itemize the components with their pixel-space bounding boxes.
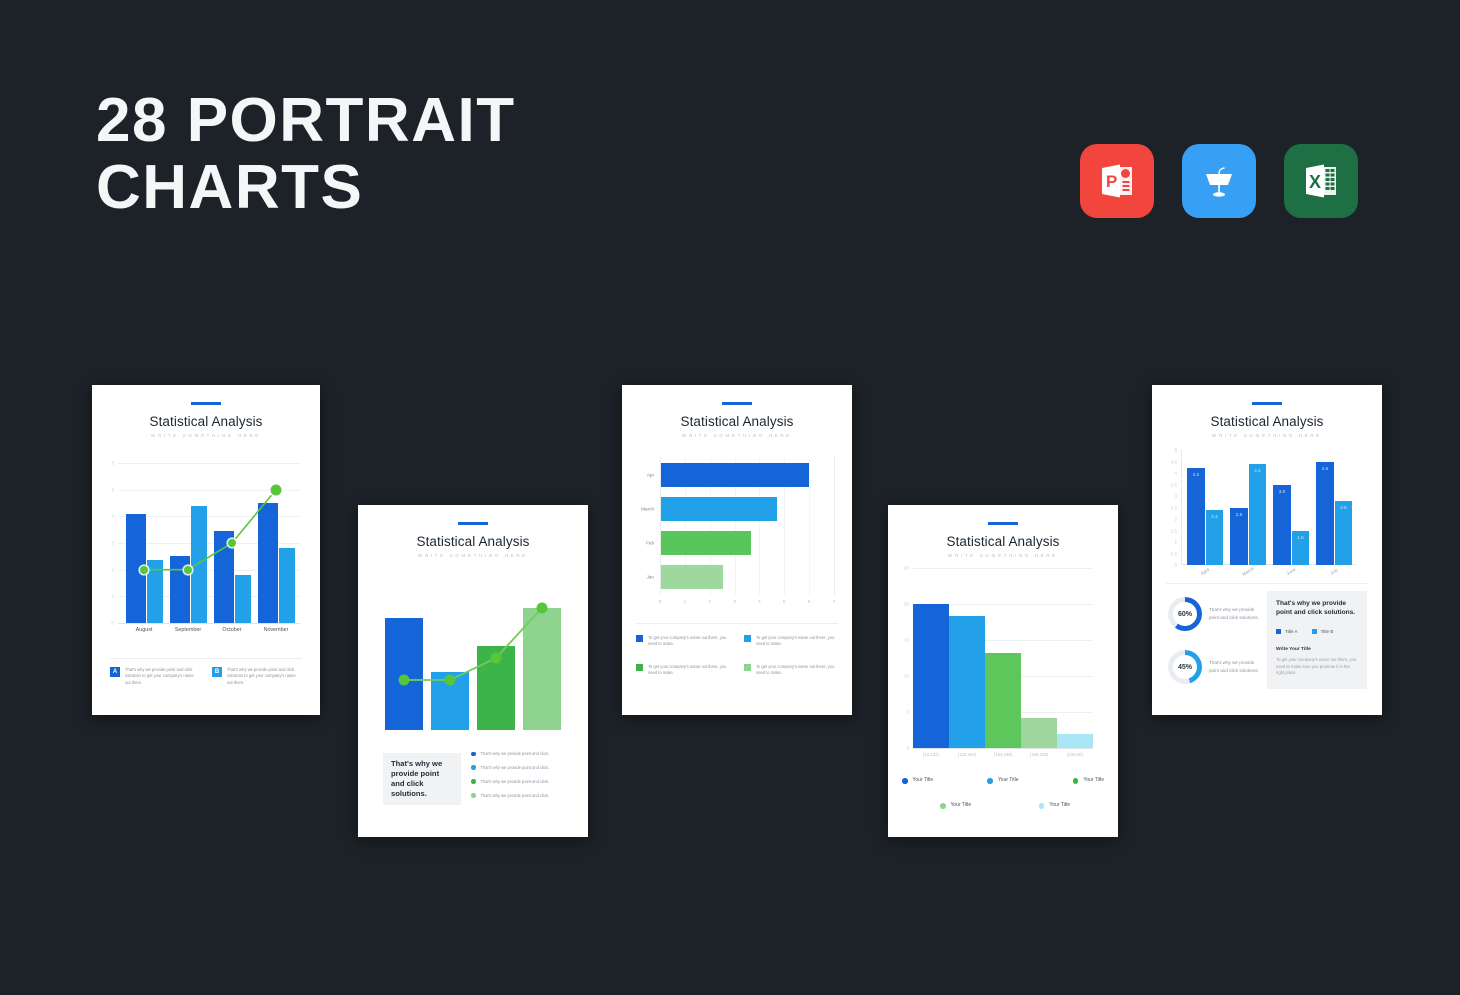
slide-5-chart: 5 4.5 4 3.5 3 2.5 2 1.5 1 0.5 0 4.2 2.4 [1183, 450, 1355, 565]
legend-item[interactable]: To get your company's name out there, yo… [636, 635, 730, 648]
legend-swatch [1276, 629, 1281, 634]
y-tick: 25 [904, 566, 909, 571]
legend-label: That's why we provide point and click. [481, 765, 550, 771]
slide-4-chart: 25 20 15 10 5 0 (10,132) (132,164) (164,… [913, 568, 1093, 748]
page-title: 28 PORTRAIT CHARTS [96, 88, 516, 222]
slide-card-3[interactable]: Statistical Analysis WRITE SOMETHING HER… [622, 385, 852, 715]
legend-swatch [744, 664, 751, 671]
legend-label: Your Title [1083, 777, 1104, 785]
bar-b-november [279, 548, 295, 623]
legend-badge-b: B [212, 667, 222, 677]
slide-1-title: Statistical Analysis [92, 414, 320, 429]
legend-badge-a: A [110, 667, 120, 677]
slide-4-header: Statistical Analysis WRITE SOMETHING HER… [888, 505, 1118, 558]
legend-item[interactable]: That's why we provide point and click. [471, 765, 571, 771]
slide-4-title: Statistical Analysis [888, 534, 1118, 549]
legend-item[interactable]: Your Title [902, 777, 933, 785]
y-tick: 2.5 [1171, 505, 1177, 510]
x-tick: (228,26) [1067, 752, 1083, 757]
y-tick: 5 [111, 487, 114, 492]
slide-1-header: Statistical Analysis WRITE SOMETHING HER… [92, 385, 320, 438]
y-tick: 10 [904, 674, 909, 679]
donut-item-2: 45% That's why we provide point and clic… [1168, 650, 1264, 684]
title-rule [458, 522, 488, 525]
donut-value: 60% [1168, 597, 1202, 631]
bar-b-october [235, 575, 251, 623]
title-rule [722, 402, 752, 405]
x-tick: October [222, 627, 241, 633]
x-tick: April [1200, 567, 1210, 576]
panel-body: To get your company's name out there, yo… [1276, 657, 1358, 677]
legend-label: To get your company's name out there, yo… [756, 664, 838, 677]
y-tick: 20 [904, 602, 909, 607]
divider [1166, 583, 1368, 584]
slide-2-title: Statistical Analysis [358, 534, 588, 549]
data-point [445, 675, 456, 686]
legend-swatch [902, 778, 908, 784]
panel-sub-heading: Write Your Title [1276, 647, 1358, 652]
x-tick: November [264, 627, 289, 633]
x-tick: 3 [733, 599, 736, 604]
legend-swatch [987, 778, 993, 784]
y-tick: 1 [1174, 540, 1177, 545]
y-tick: 0 [906, 746, 909, 751]
gridline [913, 568, 1093, 569]
title-rule [988, 522, 1018, 525]
legend-swatch [744, 635, 751, 642]
hbar-march [661, 497, 777, 521]
legend-item[interactable]: B That's why we provide point and click … [212, 667, 302, 686]
x-tick: (132,164) [958, 752, 976, 757]
bar-b-march: 4.4 [1249, 464, 1266, 565]
y-tick: 4 [111, 514, 114, 519]
data-point [399, 675, 410, 686]
x-tick: 4 [758, 599, 761, 604]
x-tick: 5 [783, 599, 786, 604]
y-tick: 5 [1174, 448, 1177, 453]
slide-5-panel: That's why we provide point and click so… [1267, 591, 1367, 689]
y-tick: 15 [904, 638, 909, 643]
data-point [537, 603, 548, 614]
bar-b-august [147, 560, 163, 623]
slide-3-subtitle: WRITE SOMETHING HERE [622, 433, 852, 438]
title-rule [1252, 402, 1282, 405]
callout-text: That's why we provide point and click so… [391, 759, 453, 800]
legend-swatch [471, 765, 476, 770]
y-tick: 6 [111, 461, 114, 466]
gridline [118, 463, 300, 464]
legend-swatch [636, 664, 643, 671]
slide-5-title: Statistical Analysis [1152, 414, 1382, 429]
y-tick: 3 [111, 541, 114, 546]
gridline [913, 748, 1093, 749]
donut-value: 45% [1168, 650, 1202, 684]
legend-swatch [471, 793, 476, 798]
bar-a-june: 3.5 [1273, 485, 1291, 566]
legend-swatch [636, 635, 643, 642]
legend-item[interactable]: Title B [1312, 628, 1334, 635]
x-tick: 1 [684, 599, 687, 604]
legend-label: Your Title [913, 777, 934, 785]
svg-text:P: P [1106, 172, 1117, 191]
y-tick: 0.5 [1171, 551, 1177, 556]
slide-2-legend: That's why we provide point and click. T… [471, 751, 571, 799]
poster-canvas: 28 PORTRAIT CHARTS P [0, 0, 1460, 995]
hbar-jan [661, 565, 723, 589]
divider [636, 623, 838, 624]
donut-chart-45[interactable]: 45% [1168, 650, 1202, 684]
slide-3-title: Statistical Analysis [622, 414, 852, 429]
legend-label: To get your company's name out there, yo… [756, 635, 838, 648]
legend-item[interactable]: Your Title [1039, 802, 1070, 810]
y-tick: March [641, 507, 654, 512]
y-tick: 5 [906, 710, 909, 715]
x-tick: (164,196) [994, 752, 1012, 757]
bar-b-september [191, 506, 207, 623]
data-point [271, 484, 282, 495]
headline-line-1: 28 PORTRAIT [96, 88, 516, 155]
legend-swatch [471, 779, 476, 784]
data-point [184, 566, 192, 574]
legend-item[interactable]: Your Title [1073, 777, 1104, 785]
app-icon-group: P X [1080, 144, 1358, 218]
y-tick: 1.5 [1171, 528, 1177, 533]
legend-label: That's why we provide point and click. [481, 793, 550, 799]
legend-label: Title A [1285, 628, 1298, 635]
excel-icon[interactable]: X [1284, 144, 1358, 218]
x-tick: 0 [659, 599, 662, 604]
legend-item[interactable]: To get your company's name out there, yo… [744, 664, 838, 677]
hbar-feb [661, 531, 751, 555]
x-tick: (196,228) [1030, 752, 1048, 757]
donut-chart-60[interactable]: 60% [1168, 597, 1202, 631]
legend-swatch [940, 803, 946, 809]
data-point [140, 566, 148, 574]
legend-swatch [1073, 778, 1079, 784]
legend-label: Your Title [998, 777, 1019, 785]
legend-item[interactable]: Your Title [940, 802, 971, 810]
x-tick: 2 [708, 599, 711, 604]
slide-2-header: Statistical Analysis WRITE SOMETHING HER… [358, 505, 588, 558]
data-point [228, 539, 236, 547]
donut-item-1: 60% That's why we provide point and clic… [1168, 597, 1264, 631]
headline-line-2: CHARTS [96, 155, 516, 222]
y-tick: 4 [1174, 471, 1177, 476]
slide-card-1[interactable]: Statistical Analysis WRITE SOMETHING HER… [92, 385, 320, 715]
slide-4-subtitle: WRITE SOMETHING HERE [888, 553, 1118, 558]
slide-4-legend-row-2: Your Title Your Title [940, 802, 1070, 810]
legend-label: That's why we provide point and click. [481, 779, 550, 785]
slide-5-subtitle: WRITE SOMETHING HERE [1152, 433, 1382, 438]
donut-description: That's why we provide point and click so… [1209, 606, 1264, 623]
x-tick: July [1329, 567, 1339, 576]
bar-b-june: 1.5 [1292, 531, 1309, 566]
slide-2-subtitle: WRITE SOMETHING HERE [358, 553, 588, 558]
x-tick: 6 [808, 599, 811, 604]
legend-swatch [1312, 629, 1317, 634]
y-axis [1181, 450, 1182, 565]
slide-3-chart: Apr March Feb Jan 0 1 2 3 4 5 6 7 [660, 457, 834, 595]
legend-label: To get your company's name out there, yo… [648, 664, 730, 677]
panel-legend: Title A Title B [1276, 628, 1358, 635]
x-tick: September [175, 627, 201, 633]
legend-label: That's why we provide point and click so… [227, 667, 302, 686]
legend-item[interactable]: That's why we provide point and click. [471, 793, 571, 799]
hist-bin-4 [1021, 718, 1057, 748]
x-tick: (10,132) [923, 752, 939, 757]
bar-a-july: 4.5 [1316, 462, 1334, 566]
x-tick: August [136, 627, 153, 633]
legend-label: To get your company's name out there, yo… [648, 635, 730, 648]
powerpoint-icon[interactable]: P [1080, 144, 1154, 218]
data-point [491, 653, 502, 664]
legend-item[interactable]: That's why we provide point and click. [471, 751, 571, 757]
bar-b-april: 2.4 [1206, 510, 1223, 565]
hist-bin-2 [949, 616, 985, 748]
legend-swatch [471, 752, 476, 757]
slide-2-callout: That's why we provide point and click so… [383, 753, 461, 805]
svg-text:X: X [1309, 172, 1321, 192]
hist-bin-1 [913, 604, 949, 748]
y-tick: Feb [646, 541, 654, 546]
divider [110, 658, 302, 659]
bar-a-march: 2.5 [1230, 508, 1248, 566]
y-tick: 3 [1174, 494, 1177, 499]
slide-5-header: Statistical Analysis WRITE SOMETHING HER… [1152, 385, 1382, 438]
y-tick: 4.5 [1171, 459, 1177, 464]
slide-4-legend-row-1: Your Title Your Title Your Title [902, 777, 1104, 785]
legend-label: Your Title [951, 802, 972, 810]
bar-b-july: 2.8 [1335, 501, 1352, 565]
slide-3-header: Statistical Analysis WRITE SOMETHING HER… [622, 385, 852, 438]
y-tick: 2 [111, 567, 114, 572]
legend-label: Title B [1321, 628, 1334, 635]
donut-description: That's why we provide point and click so… [1209, 659, 1264, 676]
x-tick: June [1285, 567, 1296, 577]
legend-item[interactable]: A That's why we provide point and click … [110, 667, 200, 686]
slide-card-2[interactable]: Statistical Analysis WRITE SOMETHING HER… [358, 505, 588, 837]
y-tick: 3.5 [1171, 482, 1177, 487]
slide-2-chart [383, 590, 563, 730]
y-tick: 2 [1174, 517, 1177, 522]
title-rule [191, 402, 221, 405]
panel-heading: That's why we provide point and click so… [1276, 600, 1358, 618]
y-tick: 1 [111, 594, 114, 599]
hist-bin-5 [1057, 734, 1093, 748]
bar-4 [523, 608, 561, 730]
bar-a-november [258, 503, 278, 623]
legend-swatch [1039, 803, 1045, 809]
legend-item[interactable]: To get your company's name out there, yo… [636, 664, 730, 677]
legend-label: That's why we provide point and click so… [125, 667, 200, 686]
slide-3-legend: To get your company's name out there, yo… [636, 635, 838, 676]
hbar-apr [661, 463, 809, 487]
bar-a-april: 4.2 [1187, 468, 1205, 565]
gridline [834, 457, 835, 595]
y-tick: Jan [647, 575, 654, 580]
x-tick: March [1241, 566, 1254, 577]
legend-item[interactable]: That's why we provide point and click. [471, 779, 571, 785]
y-tick: 0 [1174, 563, 1177, 568]
legend-label: Your Title [1049, 802, 1070, 810]
hist-bin-3 [985, 653, 1021, 748]
y-tick: Apr [647, 473, 654, 478]
slide-1-subtitle: WRITE SOMETHING HERE [92, 433, 320, 438]
legend-item[interactable]: To get your company's name out there, yo… [744, 635, 838, 648]
slide-card-5[interactable]: Statistical Analysis WRITE SOMETHING HER… [1152, 385, 1382, 715]
slide-1-chart: 6 5 4 3 2 1 0 [118, 463, 300, 623]
y-tick: 0 [111, 621, 114, 626]
gridline [809, 457, 810, 595]
keynote-icon[interactable] [1182, 144, 1256, 218]
gridline [118, 623, 300, 624]
legend-item[interactable]: Your Title [987, 777, 1018, 785]
legend-item[interactable]: Title A [1276, 628, 1298, 635]
x-tick: 7 [833, 599, 836, 604]
slide-1-legend: A That's why we provide point and click … [110, 667, 302, 686]
legend-label: That's why we provide point and click. [481, 751, 550, 757]
slide-card-4[interactable]: Statistical Analysis WRITE SOMETHING HER… [888, 505, 1118, 837]
